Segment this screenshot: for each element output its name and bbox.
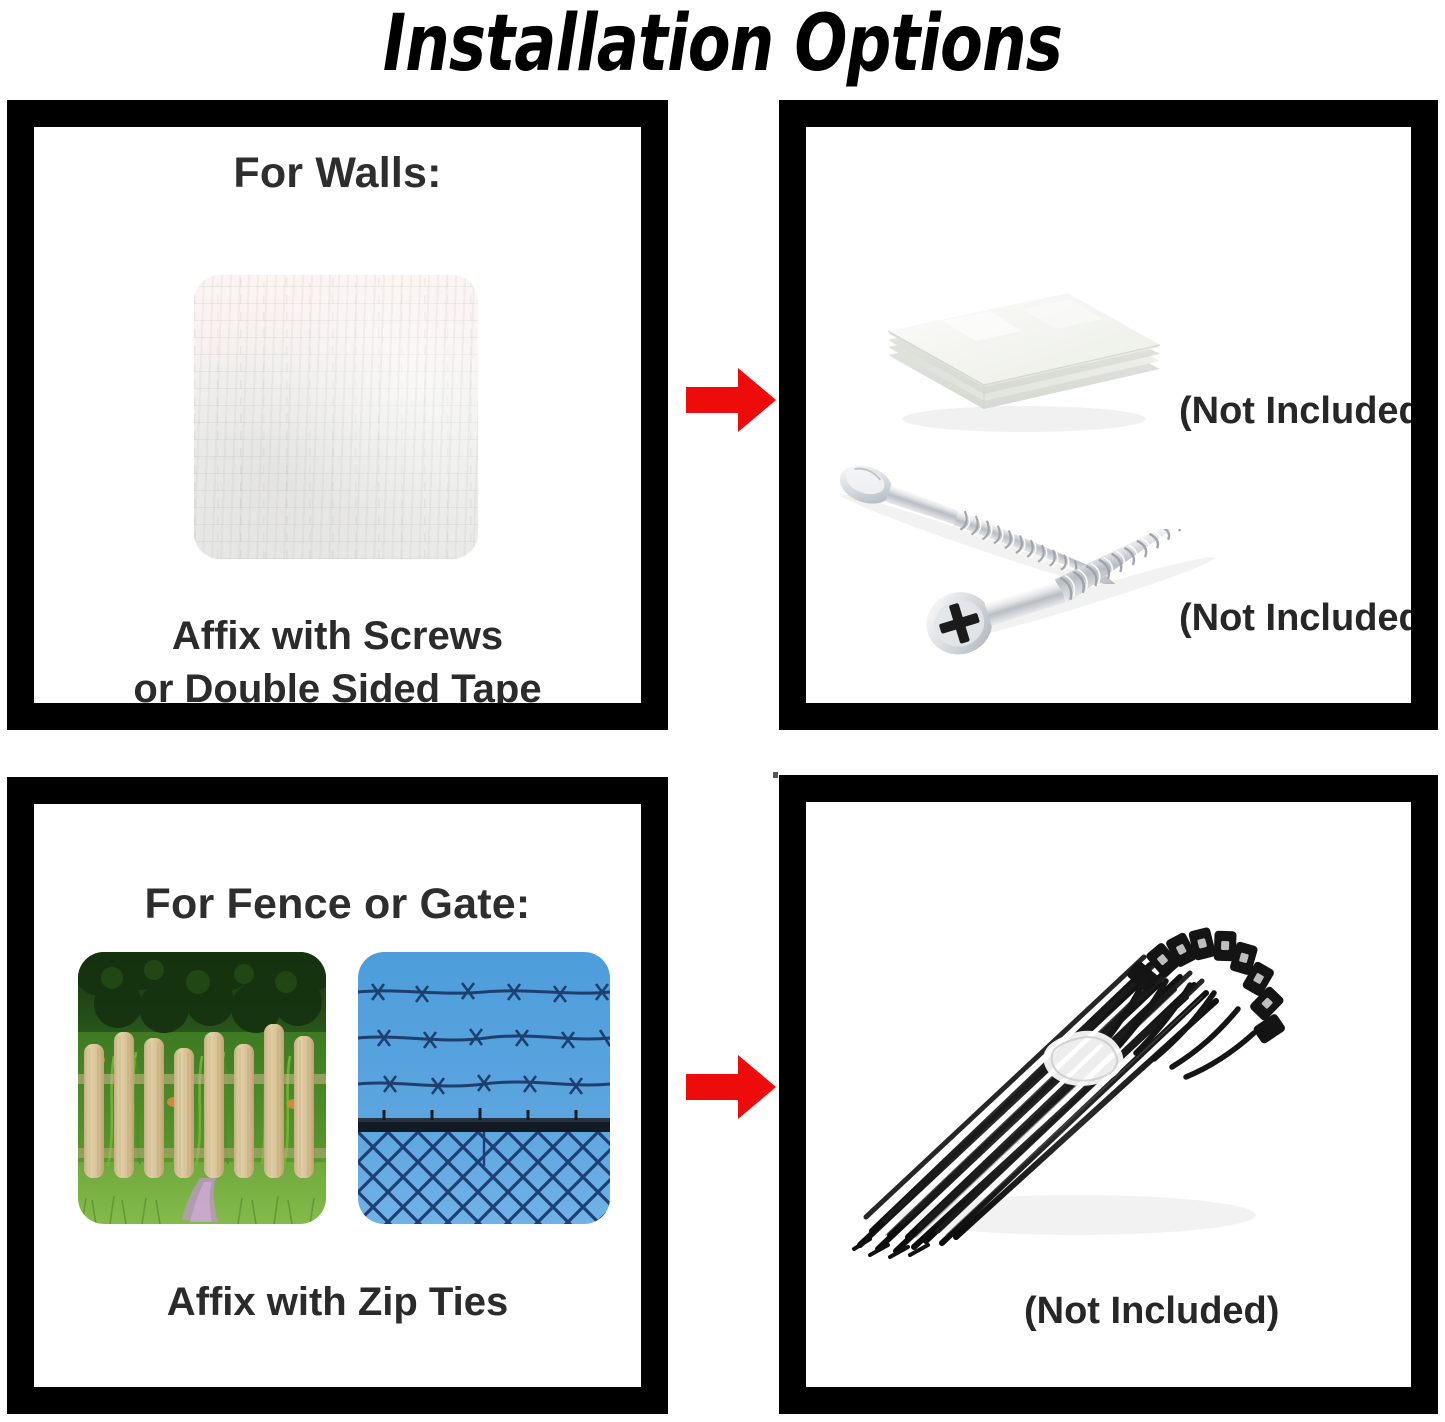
chain-link-fence-photo [358,952,610,1224]
red-arrow-icon-bottom [686,1053,776,1121]
page-title: Installation Options [145,0,1301,92]
panel-for-walls: For Walls: Affix with Screws or Double S… [7,100,668,730]
double-sided-tape-stack-icon [872,243,1172,443]
panel-zip-ties: (Not Included) [779,775,1438,1414]
panel-for-walls-inner: For Walls: Affix with Screws or Double S… [34,127,641,703]
fence-caption-line-1: Affix with Zip Ties [34,1276,641,1329]
panel-zip-ties-inner: (Not Included) [806,802,1411,1387]
zip-ties-bundle-icon [846,905,1306,1265]
tape-not-included-note: (Not Included) [1179,390,1411,433]
walls-caption-line-1: Affix with Screws [34,610,641,663]
for-walls-heading: For Walls: [34,149,641,198]
zipties-not-included-note: (Not Included) [1024,1290,1279,1333]
wall-texture-swatch [194,275,478,559]
panel-wall-hardware: (Not Included) [779,100,1438,730]
red-arrow-icon-top [686,366,776,434]
wall-grain-overlay [194,275,478,559]
fence-caption: Affix with Zip Ties [34,1276,641,1329]
panel-for-fence-or-gate: For Fence or Gate: [7,777,668,1414]
panel-wall-hardware-inner: (Not Included) [806,127,1411,703]
walls-caption-line-2: or Double Sided Tape [34,663,641,703]
screws-not-included-note: (Not Included) [1179,597,1411,640]
panel-for-fence-or-gate-inner: For Fence or Gate: [34,804,641,1387]
scan-artifact-dot [773,772,778,778]
wooden-fence-photo [78,952,326,1224]
walls-caption: Affix with Screws or Double Sided Tape [34,610,641,703]
for-fence-heading: For Fence or Gate: [34,880,641,929]
